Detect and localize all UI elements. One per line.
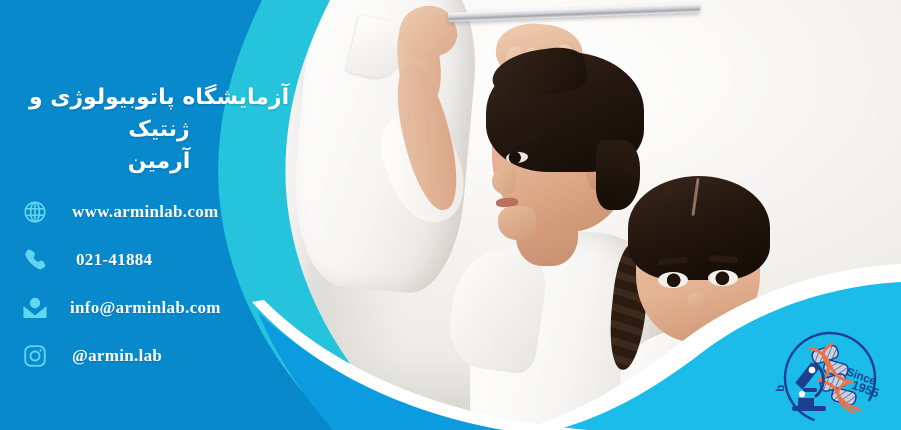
panel-content: آزمایشگاه پاتوبیولوژی و ژنتیک آرمین www.… bbox=[0, 0, 330, 430]
instagram-icon bbox=[14, 335, 56, 377]
globe-icon bbox=[14, 191, 56, 233]
contact-item-email[interactable]: @ info@arminlab.com bbox=[14, 284, 314, 332]
page-title: آزمایشگاه پاتوبیولوژی و ژنتیک آرمین bbox=[0, 82, 318, 178]
email-label: info@arminlab.com bbox=[70, 298, 221, 318]
svg-text:@: @ bbox=[32, 300, 39, 308]
girl-hair bbox=[628, 176, 770, 280]
title-line-2: آرمین bbox=[0, 146, 318, 178]
contact-item-instagram[interactable]: @armin.lab bbox=[14, 332, 314, 380]
instagram-label: @armin.lab bbox=[72, 346, 162, 366]
lab-banner: آزمایشگاه پاتوبیولوژی و ژنتیک آرمین www.… bbox=[0, 0, 901, 430]
envelope-icon: @ bbox=[14, 287, 56, 329]
phone-icon bbox=[14, 239, 56, 281]
title-line-1: آزمایشگاه پاتوبیولوژی و ژنتیک bbox=[0, 82, 318, 146]
contact-item-website[interactable]: www.arminlab.com bbox=[14, 188, 314, 236]
contact-list: www.arminlab.com 021-41884 bbox=[14, 188, 314, 380]
lab-logo[interactable]: Armin Pathobiology Lab bbox=[768, 318, 892, 430]
boy-chin bbox=[498, 206, 536, 240]
phone-label: 021-41884 bbox=[76, 250, 152, 270]
girl-nose bbox=[688, 292, 708, 310]
boy-sideburn bbox=[596, 140, 640, 210]
girl-eye bbox=[708, 270, 738, 286]
girl-eye bbox=[658, 272, 688, 288]
contact-item-phone[interactable]: 021-41884 bbox=[14, 236, 314, 284]
girl-torso bbox=[620, 330, 770, 430]
website-label: www.arminlab.com bbox=[72, 202, 218, 222]
boy-nose bbox=[492, 168, 516, 194]
